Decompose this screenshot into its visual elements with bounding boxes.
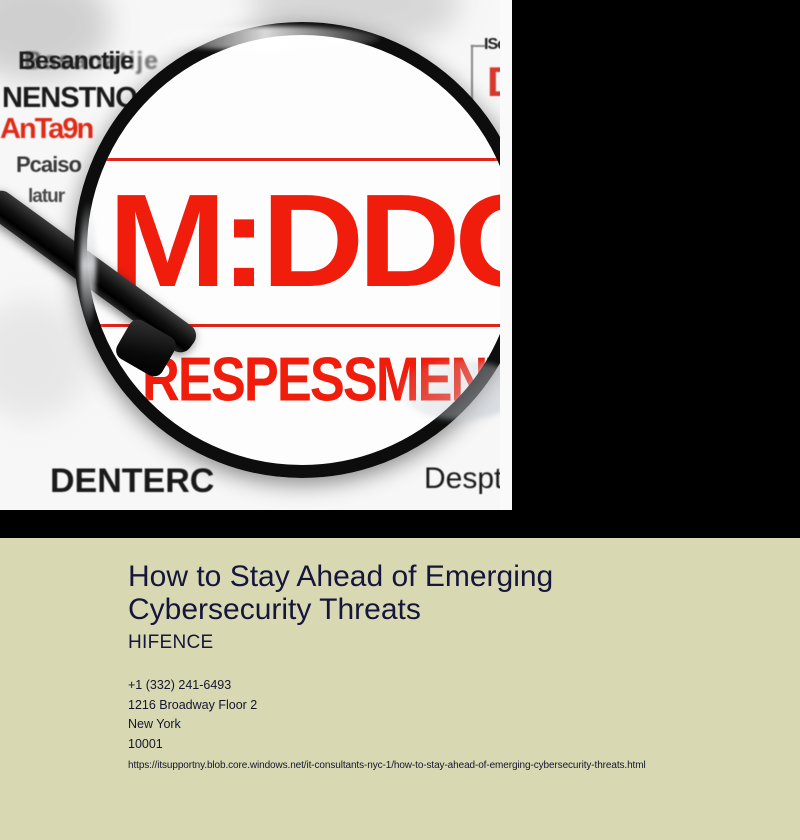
contact-phone: +1 (332) 241-6493: [128, 676, 257, 696]
document-text-bottom-left: DENTERC: [50, 462, 214, 501]
leader-line-horizontal: [471, 45, 485, 47]
brand-name: HIFENCE: [128, 632, 214, 654]
red-rule-bottom: [86, 324, 512, 327]
document-text-right-big: D: [487, 58, 512, 106]
contact-city: New York: [128, 715, 257, 735]
magnified-headline: M:DDO: [108, 166, 512, 316]
magnifier-lens-content: M:DDO RESPESSMENT: [86, 34, 512, 466]
red-rule-top: [86, 158, 512, 161]
document-text-line5: latur: [28, 186, 64, 208]
contact-block: +1 (332) 241-6493 1216 Broadway Floor 2 …: [128, 676, 257, 754]
source-url-link[interactable]: https://itsupportny.blob.core.windows.ne…: [128, 760, 646, 771]
paper-blur-decoration: [0, 300, 90, 420]
document-text-bottom-right: Despth: [424, 462, 512, 496]
page-title: How to Stay Ahead of Emerging Cybersecur…: [128, 560, 688, 626]
article-info-panel: How to Stay Ahead of Emerging Cybersecur…: [0, 538, 800, 840]
document-text-right-small: ISo: [484, 36, 506, 54]
article-hero-image: Basanatije Besanctije NENSTNO AnTa9n Pca…: [0, 0, 512, 510]
document-text-line1: Besanctije: [18, 47, 133, 76]
contact-street: 1216 Broadway Floor 2: [128, 696, 257, 716]
hero-banner: Basanatije Besanctije NENSTNO AnTa9n Pca…: [0, 0, 800, 538]
contact-zip: 10001: [128, 735, 257, 755]
document-text-line3: AnTa9n: [0, 113, 92, 146]
magnified-subhead: RESPESSMENT: [142, 344, 512, 415]
document-text-line4: Pcaiso: [16, 152, 81, 178]
document-text-line2: NENSTNO: [2, 82, 137, 115]
